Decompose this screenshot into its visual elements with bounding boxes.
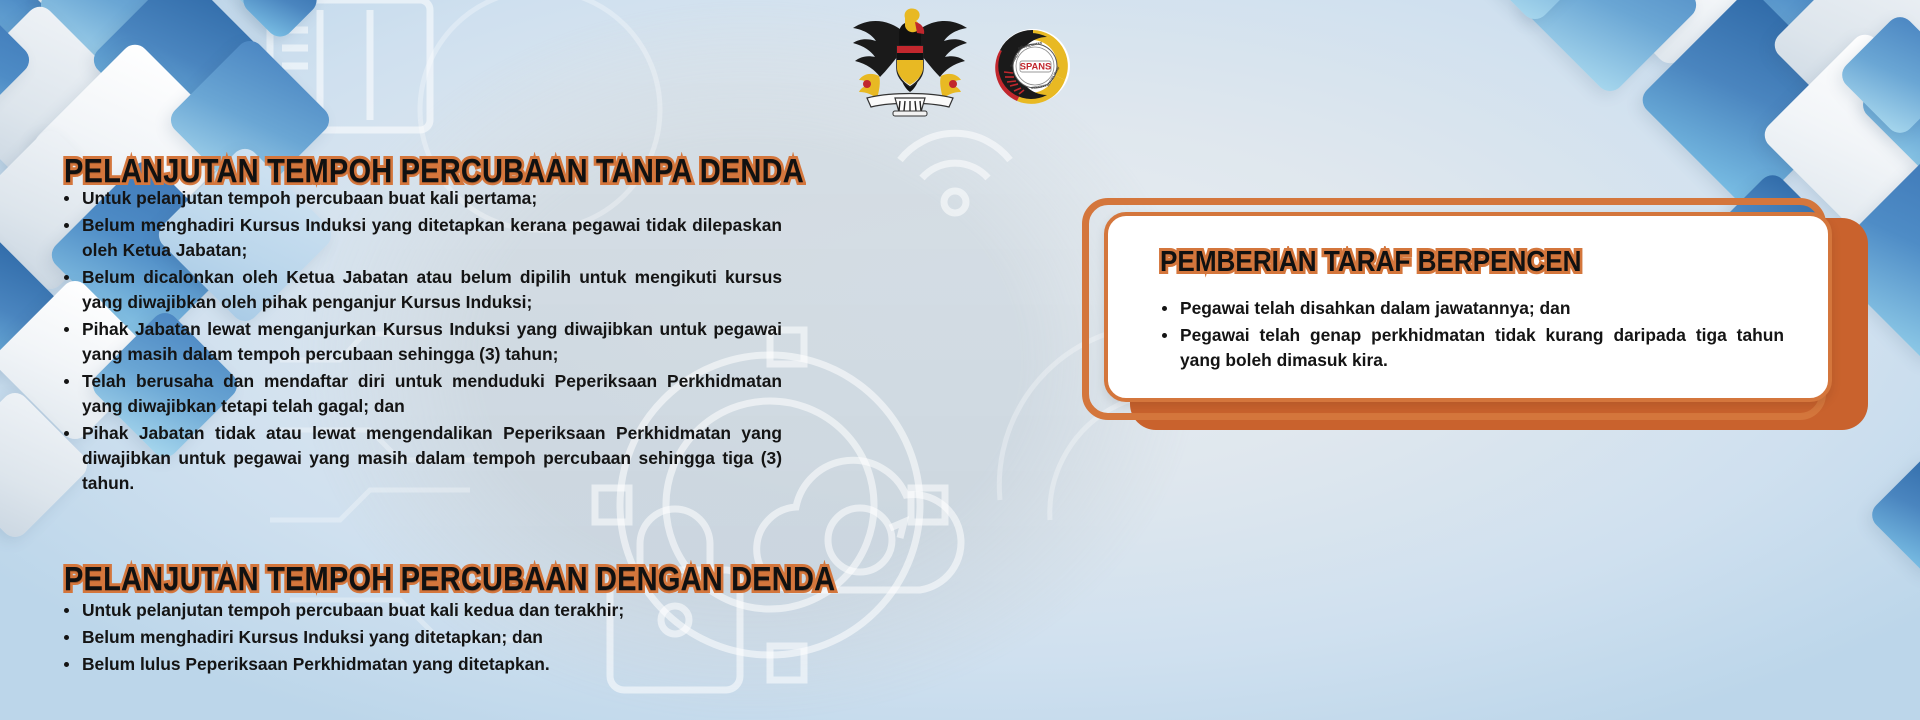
- sarawak-state-crest-icon: [845, 6, 975, 118]
- list-item: Belum menghadiri Kursus Induksi yang dit…: [56, 213, 782, 263]
- list-item: Pihak Jabatan lewat menganjurkan Kursus …: [56, 317, 782, 367]
- card-surface: PEMBERIAN TARAF BERPENCEN Pegawai telah …: [1104, 212, 1832, 402]
- section-2-body: Untuk pelanjutan tempoh percubaan buat k…: [56, 598, 816, 679]
- poster-canvas: SUKARELAWAN PERKHIDMATAN AWAM NEGERI SAR…: [0, 0, 1920, 720]
- section-heading-tanpa-denda: PELANJUTAN TEMPOH PERCUBAAN TANPA DENDA: [64, 152, 804, 190]
- section-1-body: Untuk pelanjutan tempoh percubaan buat k…: [56, 186, 782, 498]
- list-item: Belum menghadiri Kursus Induksi yang dit…: [56, 625, 816, 650]
- list-item: Untuk pelanjutan tempoh percubaan buat k…: [56, 598, 816, 623]
- list-item: Pegawai telah genap perkhidmatan tidak k…: [1154, 323, 1784, 373]
- logo-row: SUKARELAWAN PERKHIDMATAN AWAM NEGERI SAR…: [845, 6, 1065, 118]
- card-heading: PEMBERIAN TARAF BERPENCEN: [1160, 246, 1581, 279]
- bullet-list-dengan-denda: Untuk pelanjutan tempoh percubaan buat k…: [56, 598, 816, 677]
- list-item: Pihak Jabatan tidak atau lewat mengendal…: [56, 421, 782, 496]
- spans-logo-icon: SUKARELAWAN PERKHIDMATAN AWAM NEGERI SAR…: [995, 28, 1071, 104]
- list-item: Belum dicalonkan oleh Ketua Jabatan atau…: [56, 265, 782, 315]
- bullet-list-tanpa-denda: Untuk pelanjutan tempoh percubaan buat k…: [56, 186, 782, 496]
- list-item: Telah berusaha dan mendaftar diri untuk …: [56, 369, 782, 419]
- spans-wordmark: SPANS: [1020, 61, 1052, 72]
- pemberian-taraf-berpencen-card: PEMBERIAN TARAF BERPENCEN Pegawai telah …: [1082, 198, 1868, 430]
- list-item: Pegawai telah disahkan dalam jawatannya;…: [1154, 296, 1784, 321]
- list-item: Untuk pelanjutan tempoh percubaan buat k…: [56, 186, 782, 211]
- list-item: Belum lulus Peperiksaan Perkhidmatan yan…: [56, 652, 816, 677]
- section-heading-dengan-denda: PELANJUTAN TEMPOH PERCUBAAN DENGAN DENDA: [64, 560, 835, 598]
- bullet-list-berpencen: Pegawai telah disahkan dalam jawatannya;…: [1154, 296, 1784, 375]
